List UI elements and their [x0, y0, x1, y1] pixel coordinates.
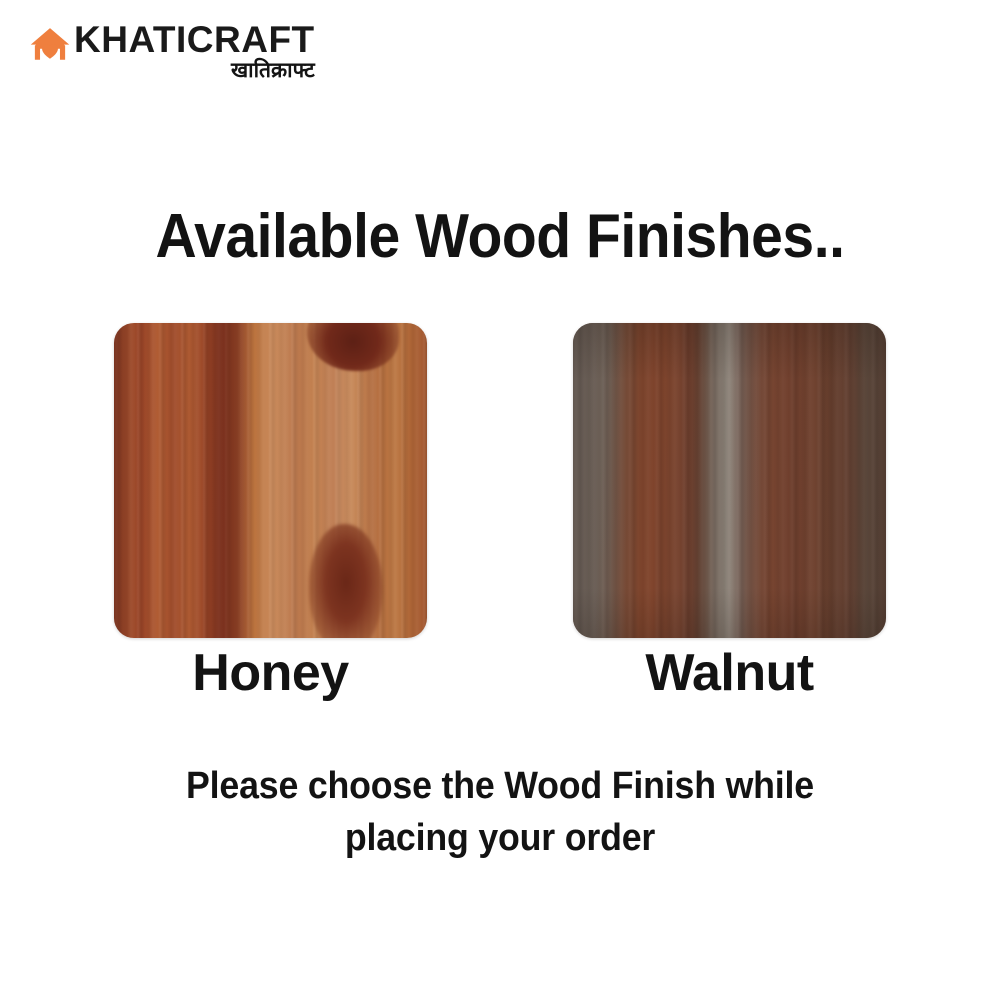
wood-finish-label-honey: Honey — [192, 646, 348, 701]
wood-finish-option-walnut[interactable]: Walnut — [573, 323, 886, 701]
instruction-caption-line-2: placing your order — [30, 812, 970, 864]
instruction-caption-line-1: Please choose the Wood Finish while — [30, 760, 970, 812]
wood-finishes-poster: KHATICRAFT खातिक्राफ्ट Available Wood Fi… — [0, 0, 1000, 1000]
wood-finish-label-walnut: Walnut — [645, 646, 813, 701]
wood-swatch-walnut[interactable] — [573, 323, 886, 638]
brand-wordmark: KHATICRAFT खातिक्राफ्ट — [74, 22, 315, 81]
brand-logo: KHATICRAFT खातिक्राफ्ट — [28, 22, 315, 81]
page-title: Available Wood Finishes.. — [40, 206, 960, 268]
house-heart-icon — [28, 24, 72, 68]
brand-name: KHATICRAFT — [74, 22, 315, 58]
wood-finish-options: Honey Walnut — [0, 323, 1000, 701]
wood-finish-option-honey[interactable]: Honey — [114, 323, 427, 701]
brand-name-devanagari: खातिक्राफ्ट — [231, 59, 315, 81]
walnut-grain-shadow — [573, 323, 886, 638]
instruction-caption: Please choose the Wood Finish while plac… — [30, 760, 970, 865]
wood-swatch-honey[interactable] — [114, 323, 427, 638]
